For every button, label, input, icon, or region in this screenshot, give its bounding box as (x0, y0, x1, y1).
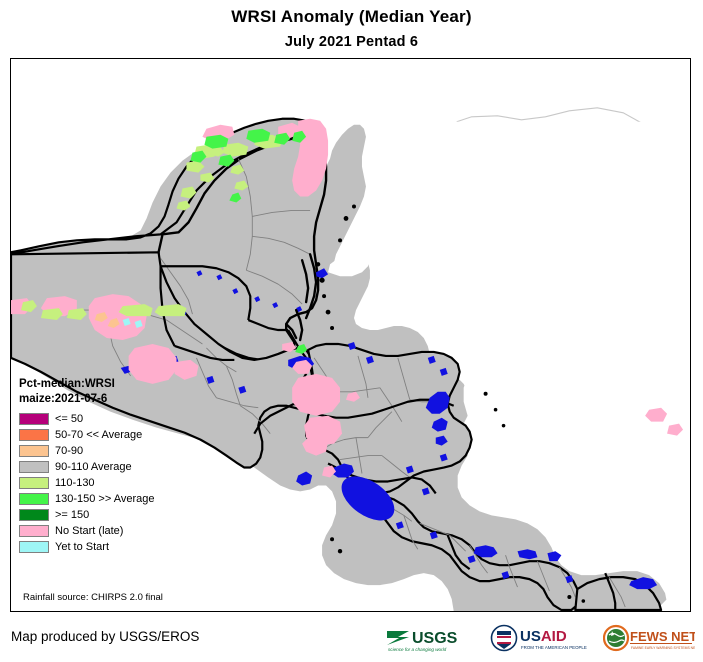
usaid-logo[interactable]: USAID FROM THE AMERICAN PEOPLE (490, 624, 594, 654)
legend-heading-line1: Pct-median:WRSI (19, 377, 155, 392)
legend-swatch-lte-50 (19, 413, 49, 425)
fewsnet-globe (604, 626, 628, 650)
legend-item: 130-150 >> Average (19, 491, 155, 506)
legend-item: 50-70 << Average (19, 427, 155, 442)
footer: Map produced by USGS/EROS USGS science f… (0, 612, 703, 662)
page-subtitle: July 2021 Pentad 6 (0, 34, 703, 50)
legend-heading-line2: maize:2021-07-6 (19, 392, 155, 407)
svg-text:USAID: USAID (520, 628, 567, 645)
logo-bar: USGS science for a changing world USAID … (385, 624, 695, 654)
svg-text:FAMINE EARLY WARNING SYSTEMS N: FAMINE EARLY WARNING SYSTEMS NETWORK (631, 646, 695, 650)
legend-item: Yet to Start (19, 539, 155, 554)
legend-swatch-90-110 (19, 461, 49, 473)
legend-swatch-70-90 (19, 445, 49, 457)
legend-swatch-no-start (19, 525, 49, 537)
legend-item: 110-130 (19, 475, 155, 490)
legend-label-no-start: No Start (late) (55, 525, 123, 537)
map-frame[interactable]: Pct-median:WRSI maize:2021-07-6 <= 50 50… (10, 58, 691, 612)
legend-label-110-130: 110-130 (55, 477, 95, 489)
svg-text:USGS: USGS (412, 630, 458, 647)
legend-label-gte-150: >= 150 (55, 509, 89, 521)
legend-swatch-110-130 (19, 477, 49, 489)
legend-item: 90-110 Average (19, 459, 155, 474)
legend-swatch-50-70 (19, 429, 49, 441)
svg-text:science for a changing world: science for a changing world (388, 647, 447, 652)
legend-label-90-110: 90-110 Average (55, 461, 132, 473)
legend-label-50-70: 50-70 << Average (55, 429, 142, 441)
usaid-seal (492, 626, 517, 651)
svg-text:FEWS NET: FEWS NET (630, 629, 695, 644)
legend-swatch-yet-to-start (19, 541, 49, 553)
svg-text:FROM THE AMERICAN PEOPLE: FROM THE AMERICAN PEOPLE (521, 645, 587, 650)
legend-item: 70-90 (19, 443, 155, 458)
rainfall-source-note: Rainfall source: CHIRPS 2.0 final (23, 592, 163, 603)
title-block: WRSI Anomaly (Median Year) July 2021 Pen… (0, 0, 703, 50)
legend-label-yet-to-start: Yet to Start (55, 541, 109, 553)
map-legend: Pct-median:WRSI maize:2021-07-6 <= 50 50… (19, 377, 155, 555)
fewsnet-logo[interactable]: FEWS NET FAMINE EARLY WARNING SYSTEMS NE… (603, 624, 695, 654)
legend-item: No Start (late) (19, 523, 155, 538)
legend-label-70-90: 70-90 (55, 445, 83, 457)
legend-swatch-gte-150 (19, 509, 49, 521)
legend-item-list: <= 50 50-70 << Average 70-90 90-110 Aver… (19, 411, 155, 554)
legend-label-lte-50: <= 50 (55, 413, 83, 425)
legend-item: <= 50 (19, 411, 155, 426)
legend-item: >= 150 (19, 507, 155, 522)
legend-swatch-130-150 (19, 493, 49, 505)
usgs-logo[interactable]: USGS science for a changing world (385, 624, 481, 654)
usgs-mark (387, 631, 409, 648)
legend-label-130-150: 130-150 >> Average (55, 493, 155, 505)
map-credit: Map produced by USGS/EROS (11, 629, 199, 644)
page-title: WRSI Anomaly (Median Year) (0, 7, 703, 27)
